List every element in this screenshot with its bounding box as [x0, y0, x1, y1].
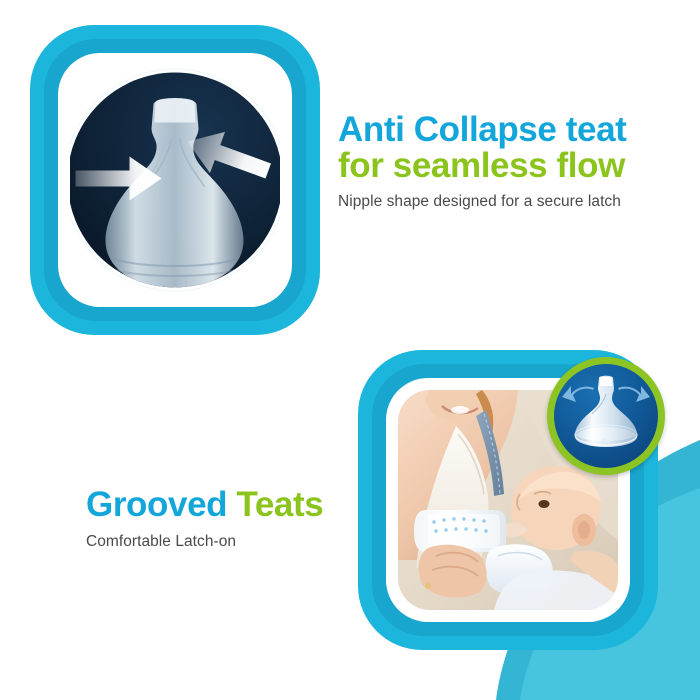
flex-arrow-left-icon: [562, 386, 594, 402]
feature-text-anti-collapse: Anti Collapse teat for seamless flow Nip…: [338, 112, 668, 211]
baby-eye: [539, 500, 550, 508]
feature-text-grooved-teats: Grooved Teats Comfortable Latch-on: [86, 487, 386, 552]
grooved-teat-badge: [547, 357, 665, 475]
anti-collapse-teat-photo: [70, 73, 280, 288]
badge-teat-tip: [600, 377, 612, 386]
infographic-canvas: Anti Collapse teat for seamless flow Nip…: [0, 0, 700, 700]
baby-ear-inner: [578, 521, 590, 539]
grooved-teats-headline-part1: Grooved: [86, 485, 227, 524]
card-media-area: [70, 65, 280, 295]
feature-card-anti-collapse: [30, 25, 320, 335]
teat-tip-highlight: [155, 98, 196, 123]
wedding-ring: [425, 583, 431, 589]
anti-collapse-headline-line1: Anti Collapse teat: [338, 112, 668, 148]
teat-illustration: [70, 73, 280, 288]
badge-teat-illustration: [554, 364, 658, 468]
badge-inner-circle: [554, 364, 658, 468]
anti-collapse-headline-line2: for seamless flow: [338, 148, 668, 184]
mother-teeth: [451, 406, 469, 414]
teat-body: [106, 99, 244, 288]
grooved-teats-subtitle: Comfortable Latch-on: [86, 532, 386, 551]
flex-arrow-right-icon: [618, 386, 650, 402]
anti-collapse-headline: Anti Collapse teat for seamless flow: [338, 112, 668, 185]
anti-collapse-subtitle: Nipple shape designed for a secure latch: [338, 192, 668, 211]
badge-teat-vent: [602, 438, 610, 443]
grooved-teats-headline-part2: Teats: [236, 485, 323, 524]
grooved-teats-headline: Grooved Teats: [86, 487, 386, 523]
